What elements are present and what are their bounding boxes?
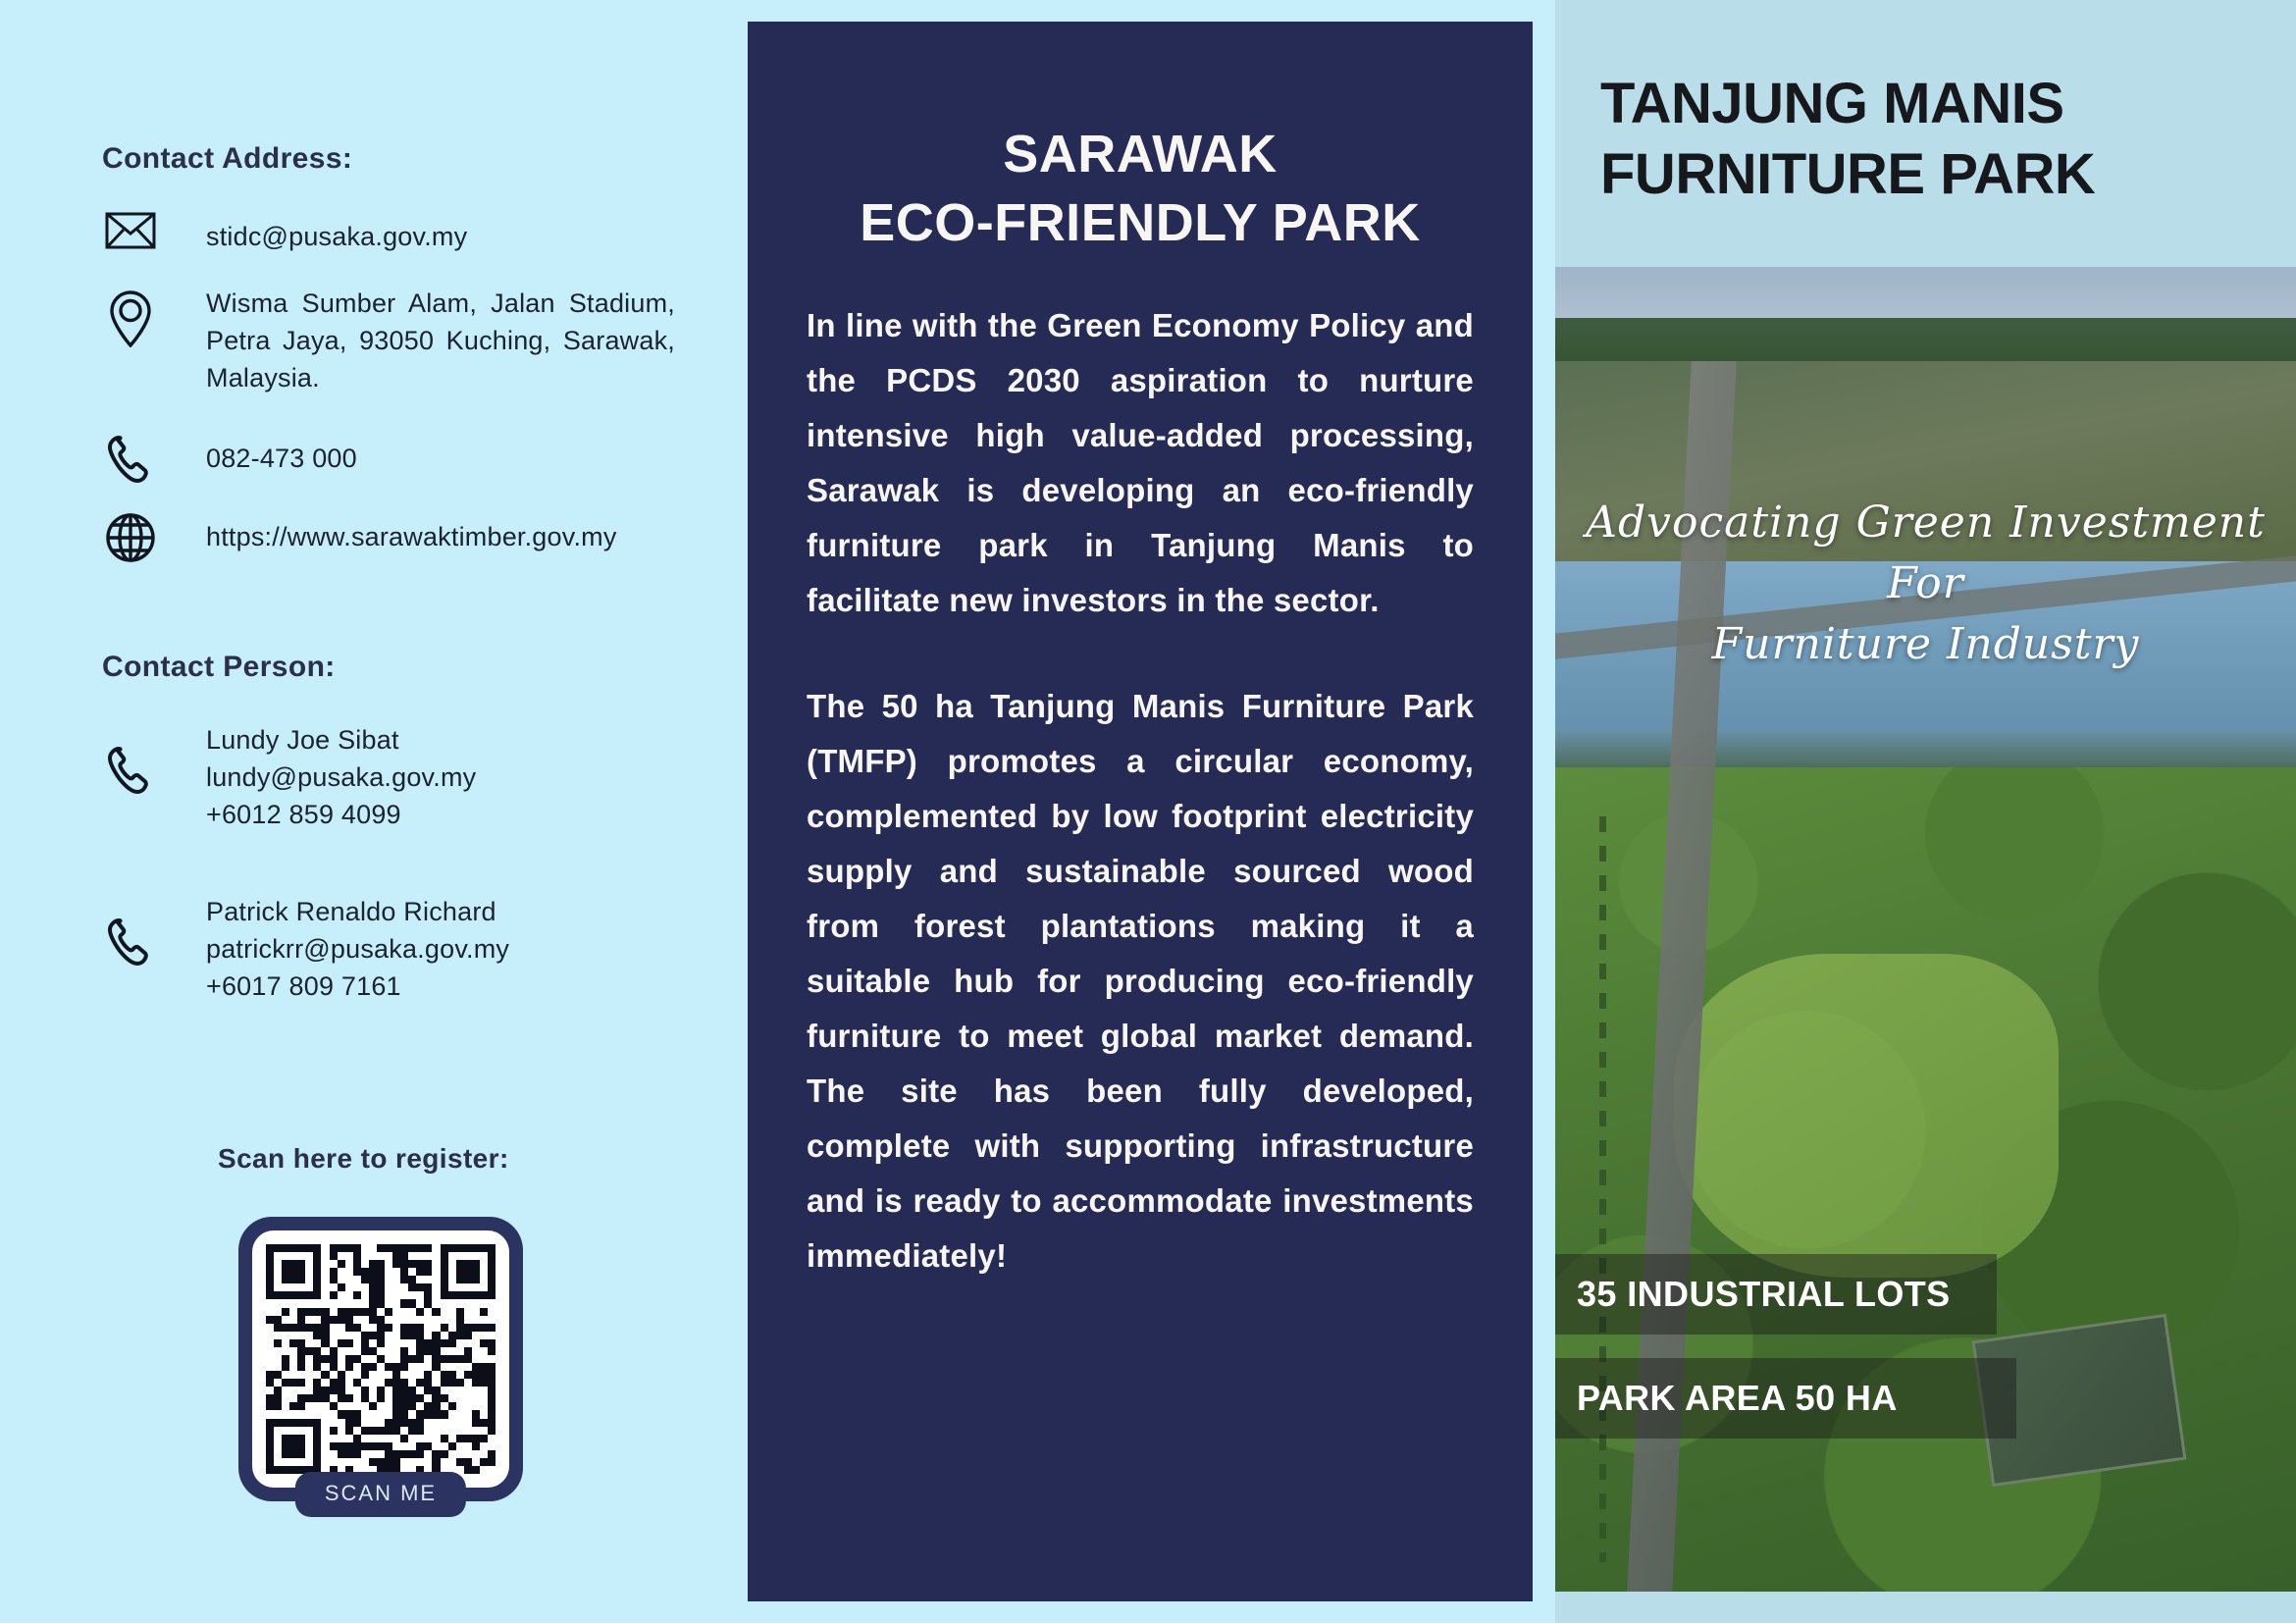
- contact-person-details: Lundy Joe Sibat lundy@pusaka.gov.my +601…: [206, 721, 476, 833]
- envelope-icon: [102, 212, 159, 249]
- tagline-line-1: Advocating Green Investment For: [1555, 493, 2296, 614]
- phone-icon: [102, 745, 159, 796]
- stat-park-area: PARK AREA 50 HA: [1555, 1358, 2016, 1439]
- contact-person-name: Patrick Renaldo Richard: [206, 897, 496, 926]
- contact-person-heading: Contact Person:: [102, 651, 336, 684]
- contact-address-row: Wisma Sumber Alam, Jalan Stadium, Petra …: [102, 285, 675, 396]
- contact-person-phone: +6012 859 4099: [206, 800, 401, 829]
- center-title-line-1: SARAWAK: [807, 120, 1474, 188]
- tagline-overlay: Advocating Green Investment For Furnitur…: [1555, 493, 2296, 675]
- contact-phone-row[interactable]: 082-473 000: [102, 440, 357, 485]
- tagline-line-2: Furniture Industry: [1555, 614, 2296, 675]
- hero-title-line-2: FURNITURE PARK: [1600, 139, 2251, 210]
- globe-icon: [102, 512, 159, 563]
- qr-code-frame: [238, 1217, 523, 1501]
- contact-email-text: stidc@pusaka.gov.my: [206, 218, 467, 255]
- hero-title-line-1: TANJUNG MANIS: [1600, 69, 2251, 139]
- contact-person-email: lundy@pusaka.gov.my: [206, 762, 476, 792]
- stat-industrial-lots: 35 INDUSTRIAL LOTS: [1555, 1254, 1997, 1335]
- scan-register-heading: Scan here to register:: [218, 1143, 509, 1175]
- contact-website-row[interactable]: https://www.sarawaktimber.gov.my: [102, 518, 617, 563]
- phone-icon: [102, 916, 159, 968]
- center-paragraph-1: In line with the Green Economy Policy an…: [807, 298, 1474, 628]
- contact-address-text: Wisma Sumber Alam, Jalan Stadium, Petra …: [206, 285, 675, 396]
- location-pin-icon: [102, 290, 159, 347]
- photo-clearing: [1674, 954, 2060, 1278]
- qr-code-modules: [266, 1244, 496, 1474]
- contact-person-details: Patrick Renaldo Richard patrickrr@pusaka…: [206, 893, 509, 1005]
- aerial-photo: Advocating Green Investment For Furnitur…: [1555, 267, 2296, 1592]
- contact-website-text: https://www.sarawaktimber.gov.my: [206, 518, 617, 555]
- photo-tree-line: [1599, 816, 1606, 1562]
- description-panel: SARAWAK ECO-FRIENDLY PARK In line with t…: [748, 22, 1533, 1601]
- phone-icon: [102, 434, 159, 485]
- contact-person-name: Lundy Joe Sibat: [206, 725, 399, 755]
- scan-me-label: SCAN ME: [295, 1472, 466, 1517]
- contact-phone-text: 082-473 000: [206, 440, 357, 477]
- qr-code-inner: [252, 1230, 509, 1488]
- brochure-page: Contact Address: stidc@pusaka.gov.my Wis…: [0, 0, 2296, 1623]
- hero-panel: TANJUNG MANIS FURNITURE PARK Advocating …: [1555, 0, 2296, 1623]
- center-paragraph-2: The 50 ha Tanjung Manis Furniture Park (…: [807, 679, 1474, 1283]
- contact-person-row[interactable]: Lundy Joe Sibat lundy@pusaka.gov.my +601…: [102, 721, 476, 833]
- contact-address-heading: Contact Address:: [102, 142, 352, 176]
- qr-code[interactable]: SCAN ME: [238, 1217, 523, 1501]
- contact-person-phone: +6017 809 7161: [206, 971, 401, 1001]
- hero-title: TANJUNG MANIS FURNITURE PARK: [1555, 0, 2296, 210]
- contact-panel: Contact Address: stidc@pusaka.gov.my Wis…: [0, 0, 748, 1623]
- contact-person-email: patrickrr@pusaka.gov.my: [206, 934, 509, 964]
- center-panel-title: SARAWAK ECO-FRIENDLY PARK: [807, 120, 1474, 257]
- contact-email-row[interactable]: stidc@pusaka.gov.my: [102, 218, 467, 255]
- center-title-line-2: ECO-FRIENDLY PARK: [807, 188, 1474, 257]
- contact-person-row[interactable]: Patrick Renaldo Richard patrickrr@pusaka…: [102, 893, 509, 1005]
